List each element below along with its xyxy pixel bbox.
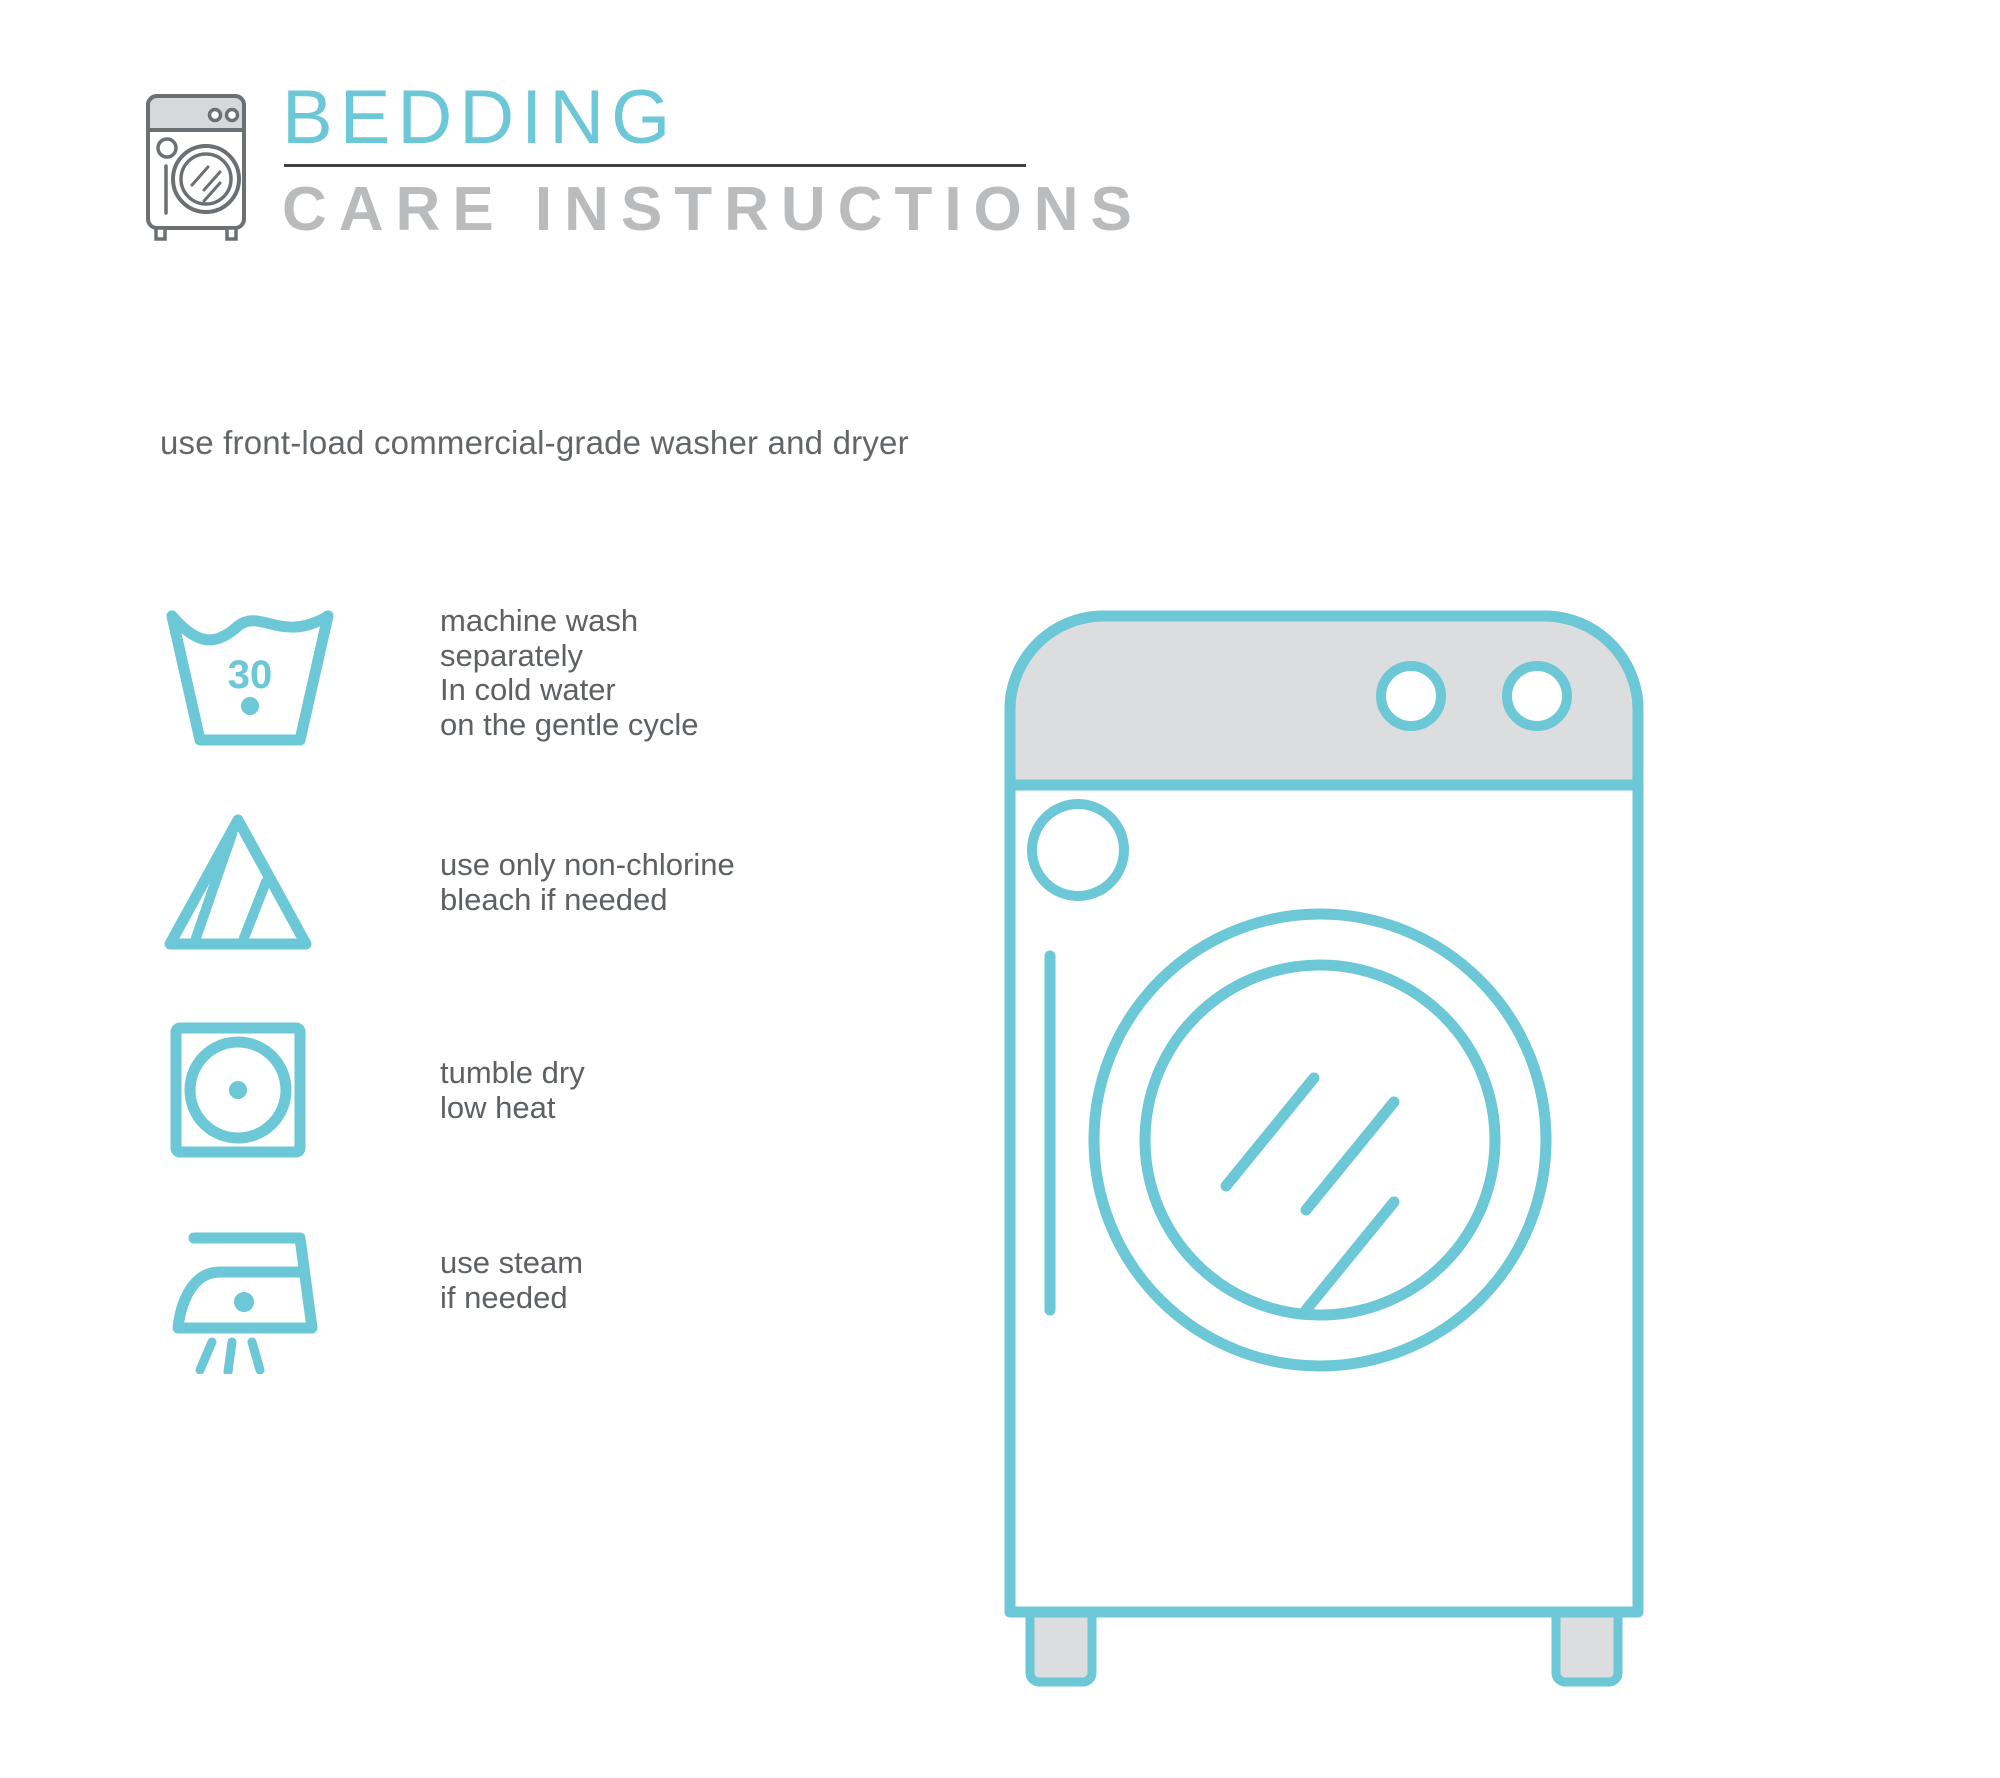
washing-machine-icon: [132, 86, 262, 241]
care-row-bleach: use only non-chlorine bleach if needed: [160, 808, 780, 1016]
care-row-label: machine wash separately In cold water on…: [440, 604, 780, 743]
header: BEDDING CARE INSTRUCTIONS: [132, 78, 1332, 258]
care-row-iron-steam: use steam if needed: [160, 1224, 780, 1432]
care-row-machine-wash: 30 machine wash separately In cold water…: [160, 600, 780, 808]
wash-temperature-value: 30: [228, 653, 273, 697]
page-subtitle: CARE INSTRUCTIONS: [282, 177, 1322, 242]
detergent-port: [1032, 804, 1124, 896]
door-window: [1145, 965, 1495, 1315]
page-title: BEDDING: [282, 78, 1322, 158]
tumble-dry-low-icon: [160, 1016, 340, 1166]
header-text-block: BEDDING CARE INSTRUCTIONS: [282, 78, 1322, 242]
wash-tub-30-icon: 30: [160, 600, 340, 750]
front-load-washing-machine-illustration: [1000, 600, 1820, 1690]
care-instruction-list: 30 machine wash separately In cold water…: [160, 600, 780, 1432]
bleach-triangle-icon: [160, 808, 340, 958]
title-divider: [284, 164, 1026, 167]
intro-text: use front-load commercial-grade washer a…: [160, 424, 909, 462]
care-row-label: use only non-chlorine bleach if needed: [440, 848, 735, 917]
care-row-tumble-dry: tumble dry low heat: [160, 1016, 780, 1224]
dial-left: [1381, 666, 1441, 726]
dial-right: [1507, 666, 1567, 726]
iron-steam-icon: [160, 1224, 340, 1374]
care-row-label: use steam if needed: [440, 1246, 583, 1315]
care-row-label: tumble dry low heat: [440, 1056, 585, 1125]
